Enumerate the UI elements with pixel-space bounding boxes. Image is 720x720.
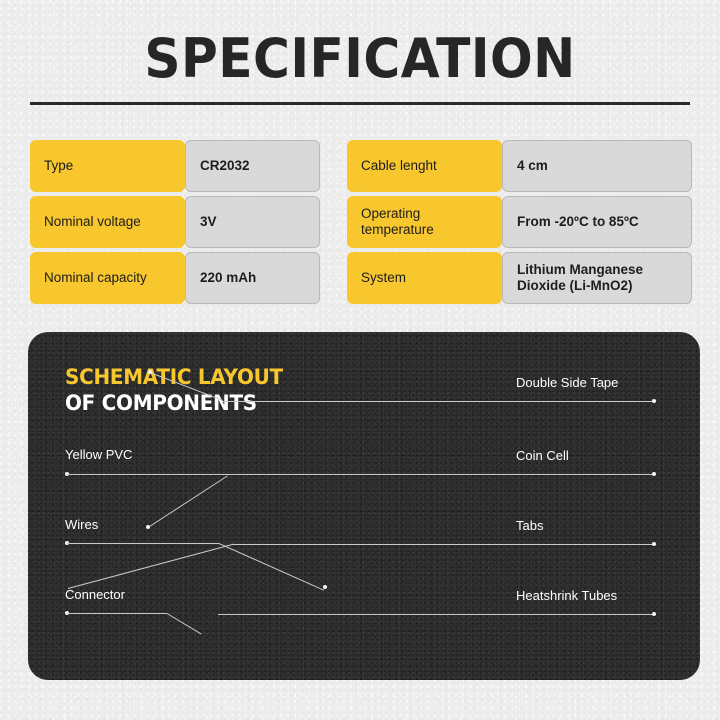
callout-coin-cell: Coin Cell [516,448,569,464]
callout-line-double-side-tape [222,401,656,402]
spec-label-voltage: Nominal voltage [30,196,185,248]
callout-endpoint-coin-cell [146,525,150,529]
callout-endpoint-wires [323,585,327,589]
spec-label-temperature: Operating temperature [347,196,502,248]
callout-dot-double-side-tape [652,399,656,403]
callout-double-side-tape: Double Side Tape [516,375,618,391]
callout-dot-coin-cell [652,472,656,476]
callout-label-wires: Wires [65,517,98,533]
callout-endpoint-double-side-tape [148,370,152,374]
spec-value-type: CR2032 [185,140,320,192]
title-divider [30,102,690,105]
callout-heatshrink-tubes: Heatshrink Tubes [516,588,617,604]
callout-line-connector [67,613,167,614]
callout-dot-tabs [652,542,656,546]
callout-label-tabs: Tabs [516,518,543,534]
callout-line-wires [67,543,219,544]
callout-label-coin-cell: Coin Cell [516,448,569,464]
callout-wires: Wires [65,517,98,533]
spec-label-type: Type [30,140,185,192]
spec-value-voltage: 3V [185,196,320,248]
spec-label-capacity: Nominal capacity [30,252,185,304]
callout-connector: Connector [65,587,125,603]
callout-dot-heatshrink-tubes [652,612,656,616]
callout-label-heatshrink-tubes: Heatshrink Tubes [516,588,617,604]
spec-label-cable-length: Cable lenght [347,140,502,192]
spec-label-system: System [347,252,502,304]
spec-value-capacity: 220 mAh [185,252,320,304]
callout-line-coin-cell [233,474,656,475]
callout-label-yellow-pvc: Yellow PVC [65,447,132,463]
callout-yellow-pvc: Yellow PVC [65,447,132,463]
page-title: SPECIFICATION [25,30,695,88]
spec-value-cable-length: 4 cm [502,140,692,192]
callout-label-double-side-tape: Double Side Tape [516,375,618,391]
callout-tabs: Tabs [516,518,543,534]
callout-line-tabs [233,544,656,545]
callout-line-heatshrink-tubes [218,614,656,615]
spec-value-system: Lithium Manganese Dioxide (Li-MnO2) [502,252,692,304]
specification-table: Type CR2032 Nominal voltage 3V Nominal c… [30,140,692,308]
schematic-panel: SCHEMATIC LAYOUT OF COMPONENTS Rt ROMETE… [28,332,700,680]
callout-label-connector: Connector [65,587,125,603]
spec-value-temperature: From -20ºC to 85ºC [502,196,692,248]
